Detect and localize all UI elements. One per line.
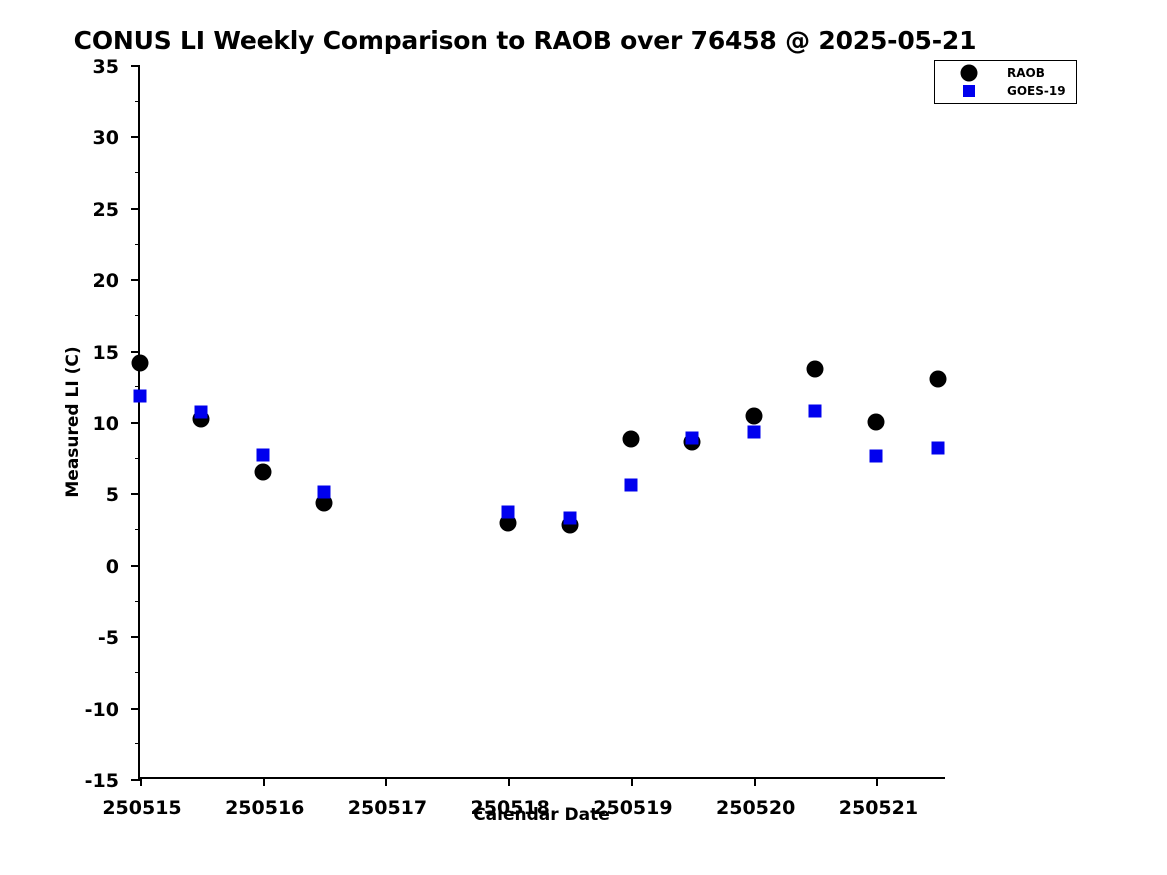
data-point-goes19 <box>502 505 515 518</box>
legend-entry-goes19: GOES-19 <box>935 82 1076 100</box>
y-tick-minor <box>135 601 140 602</box>
y-tick-label: 5 <box>106 484 119 506</box>
x-tick-label: 250521 <box>839 797 918 819</box>
x-tick: 250515 <box>140 777 142 786</box>
x-tick-label: 250519 <box>593 797 672 819</box>
data-point-goes19 <box>624 478 637 491</box>
y-tick: -5 <box>131 636 140 638</box>
data-point-goes19 <box>563 511 576 524</box>
y-tick-label: 15 <box>93 342 119 364</box>
data-point-raob <box>254 463 271 480</box>
y-tick: 30 <box>131 136 140 138</box>
data-point-raob <box>745 408 762 425</box>
square-marker-icon <box>963 85 975 97</box>
data-point-goes19 <box>809 404 822 417</box>
circle-marker-icon <box>961 65 978 82</box>
y-tick-minor <box>135 386 140 387</box>
y-tick-minor <box>135 672 140 673</box>
y-tick-minor <box>135 458 140 459</box>
data-point-goes19 <box>747 425 760 438</box>
x-tick-label: 250520 <box>716 797 795 819</box>
data-point-raob <box>132 355 149 372</box>
x-tick-label: 250515 <box>102 797 181 819</box>
data-point-raob <box>807 361 824 378</box>
y-tick: 15 <box>131 351 140 353</box>
y-tick: 35 <box>131 65 140 67</box>
legend-label: RAOB <box>1007 66 1045 80</box>
y-tick-minor <box>135 244 140 245</box>
y-tick: 5 <box>131 493 140 495</box>
x-tick: 250521 <box>876 777 878 786</box>
x-tick: 250517 <box>385 777 387 786</box>
y-tick: 20 <box>131 279 140 281</box>
data-point-raob <box>929 371 946 388</box>
y-tick-minor <box>135 172 140 173</box>
legend-entry-raob: RAOB <box>935 64 1076 82</box>
y-tick: -15 <box>131 779 140 781</box>
y-tick: 25 <box>131 208 140 210</box>
x-tick-label: 250518 <box>471 797 550 819</box>
y-tick: 0 <box>131 565 140 567</box>
y-tick-label: -15 <box>85 770 119 792</box>
y-tick-minor <box>135 101 140 102</box>
data-point-goes19 <box>870 450 883 463</box>
data-point-raob <box>622 431 639 448</box>
y-tick-minor <box>135 529 140 530</box>
y-tick-label: 0 <box>106 556 119 578</box>
data-point-goes19 <box>256 448 269 461</box>
y-tick-label: 30 <box>93 127 119 149</box>
y-tick-label: 20 <box>93 270 119 292</box>
y-tick-label: 35 <box>93 56 119 78</box>
x-tick-label: 250517 <box>348 797 427 819</box>
x-tick-label: 250516 <box>225 797 304 819</box>
y-tick-label: -5 <box>98 627 119 649</box>
y-tick-minor <box>135 315 140 316</box>
x-tick: 250520 <box>754 777 756 786</box>
y-tick-label: 25 <box>93 199 119 221</box>
data-point-goes19 <box>931 441 944 454</box>
y-tick: -10 <box>131 708 140 710</box>
data-point-goes19 <box>686 431 699 444</box>
chart-title: CONUS LI Weekly Comparison to RAOB over … <box>0 26 1050 55</box>
plot-area: 35302520151050-5-10-15 25051525051625051… <box>138 65 945 779</box>
y-tick: 10 <box>131 422 140 424</box>
x-tick: 250518 <box>508 777 510 786</box>
legend-label: GOES-19 <box>1007 84 1066 98</box>
data-point-raob <box>868 414 885 431</box>
chart-figure: CONUS LI Weekly Comparison to RAOB over … <box>0 0 1167 875</box>
x-tick: 250519 <box>631 777 633 786</box>
y-axis-title: Measured LI (C) <box>63 346 83 497</box>
y-tick-label: 10 <box>93 413 119 435</box>
x-tick: 250516 <box>263 777 265 786</box>
y-tick-label: -10 <box>85 699 119 721</box>
data-point-goes19 <box>195 406 208 419</box>
y-tick-minor <box>135 743 140 744</box>
data-point-goes19 <box>134 390 147 403</box>
data-point-goes19 <box>318 485 331 498</box>
chart-legend: RAOB GOES-19 <box>934 60 1077 104</box>
